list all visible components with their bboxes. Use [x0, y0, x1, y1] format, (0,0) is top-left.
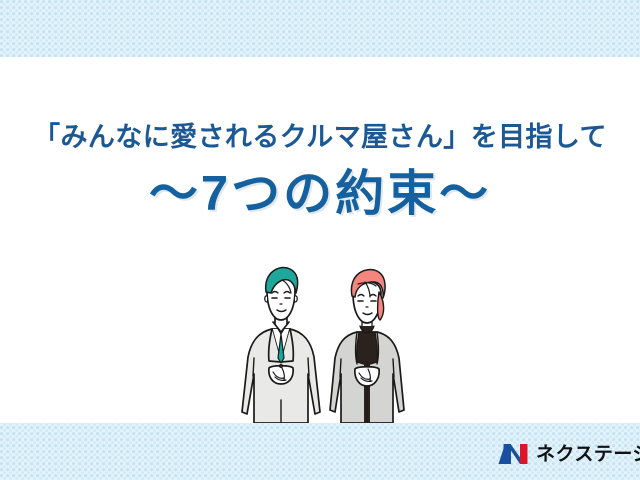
two-bowing-staff-illustration: [238, 262, 424, 423]
nextage-logo[interactable]: ネクステージ: [498, 437, 640, 471]
nextage-logo-text: ネクステージ: [536, 445, 640, 464]
headline-secondary-text: 〜7つの約束〜: [0, 169, 640, 220]
male-staff-figure: [242, 268, 320, 423]
nextage-n-mark-icon: [498, 442, 529, 466]
headline-primary-text: 「みんなに愛されるクルマ屋さん」を目指して: [0, 123, 640, 153]
female-staff-figure: [330, 270, 404, 423]
slide-canvas: 「みんなに愛されるクルマ屋さん」を目指して 〜7つの約束〜: [0, 0, 640, 480]
staff-illustration-svg: [238, 262, 424, 423]
headline-block: 「みんなに愛されるクルマ屋さん」を目指して 〜7つの約束〜: [0, 57, 640, 220]
